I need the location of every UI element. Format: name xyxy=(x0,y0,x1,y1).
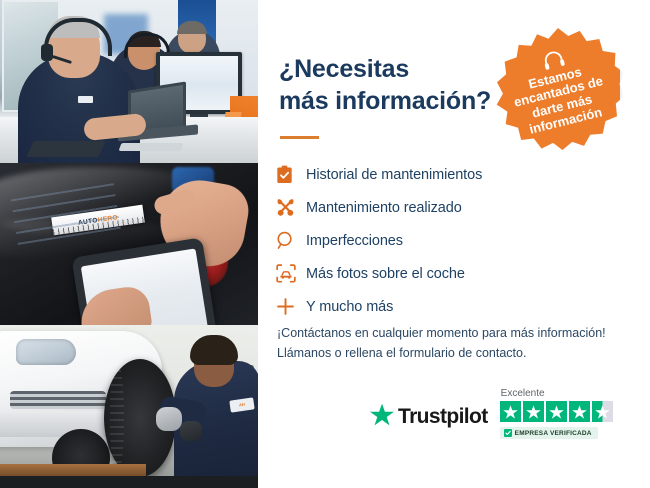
star-icon-1 xyxy=(500,401,521,422)
trustpilot-rating-label: Excelente xyxy=(501,388,545,399)
star-icon-5-half xyxy=(592,401,613,422)
feature-item-maintenance-done: Mantenimiento realizado xyxy=(276,191,616,224)
feature-label: Imperfecciones xyxy=(306,233,403,249)
page-title-line-1: ¿Necesitas xyxy=(279,55,409,83)
feature-item-more-photos: Más fotos sobre el coche xyxy=(276,257,616,290)
photo3-tyre-tread xyxy=(110,363,124,473)
car-inspection-ruler-photo: AUTOHERO xyxy=(0,163,258,325)
tools-cross-icon xyxy=(276,198,306,217)
page-title: ¿Necesitas más información? xyxy=(279,54,509,117)
badge-text: Estamos encantados de darte más informac… xyxy=(503,59,618,141)
check-icon xyxy=(504,429,512,437)
trustpilot-wordmark: Trustpilot xyxy=(398,405,488,429)
feature-list: Historial de mantenimientos Mantenimient… xyxy=(276,158,616,323)
feature-label: Historial de mantenimientos xyxy=(306,167,482,183)
trustpilot-score-block: Excelente xyxy=(500,388,613,439)
trustpilot-star-icon xyxy=(370,403,394,431)
photo1-tablet-on-desk xyxy=(26,141,105,157)
trustpilot-logo[interactable]: Trustpilot xyxy=(370,403,488,431)
feature-label: Y mucho más xyxy=(306,299,393,315)
closing-paragraph: ¡Contáctanos en cualquier momento para m… xyxy=(277,323,637,364)
feature-label: Más fotos sobre el coche xyxy=(306,266,465,282)
verified-company-badge: EMPRESA VERIFICADA xyxy=(500,427,598,439)
star-icon-2 xyxy=(523,401,544,422)
feature-label: Mantenimiento realizado xyxy=(306,200,462,216)
magnifier-icon xyxy=(276,231,306,250)
photo3-floor xyxy=(0,476,258,488)
photo3-glove-upper xyxy=(156,407,182,431)
clipboard-check-icon xyxy=(276,165,306,184)
feature-item-maintenance-history: Historial de mantenimientos xyxy=(276,158,616,191)
plus-icon xyxy=(276,297,306,316)
trustpilot-rating[interactable]: Trustpilot Excelente xyxy=(370,388,620,439)
photo3-glove-lower xyxy=(180,421,202,441)
closing-line-1: ¡Contáctanos en cualquier momento para m… xyxy=(277,326,606,340)
photo1-keyboard xyxy=(119,143,184,151)
promo-card: AUTOHERO AH xyxy=(0,0,650,488)
call-center-agents-photo xyxy=(0,0,258,163)
feature-item-much-more: Y mucho más xyxy=(276,290,616,323)
photo3-headlight xyxy=(16,339,76,365)
info-badge: Estamos encantados de darte más informac… xyxy=(496,28,620,152)
car-frame-icon xyxy=(276,264,306,283)
photo3-mechanic-hair xyxy=(190,335,238,365)
closing-line-2: Llámanos o rellena el formulario de cont… xyxy=(277,346,526,360)
photo1-name-badge xyxy=(78,96,93,103)
page-title-line-2: más información? xyxy=(279,87,491,115)
content-panel: ¿Necesitas más información? Estamos enca… xyxy=(258,0,650,488)
feature-item-imperfections: Imperfecciones xyxy=(276,224,616,257)
trustpilot-stars xyxy=(500,401,613,422)
badge-content: Estamos encantados de darte más informac… xyxy=(483,15,633,165)
photo-column: AUTOHERO AH xyxy=(0,0,258,488)
star-icon-3 xyxy=(546,401,567,422)
photo1-headset-earcup xyxy=(41,44,53,61)
title-divider xyxy=(280,136,319,139)
mechanic-wheel-photo: AH xyxy=(0,325,258,488)
star-icon-4 xyxy=(569,401,590,422)
verified-company-text: EMPRESA VERIFICADA xyxy=(515,430,592,437)
photo3-grille xyxy=(10,391,106,409)
